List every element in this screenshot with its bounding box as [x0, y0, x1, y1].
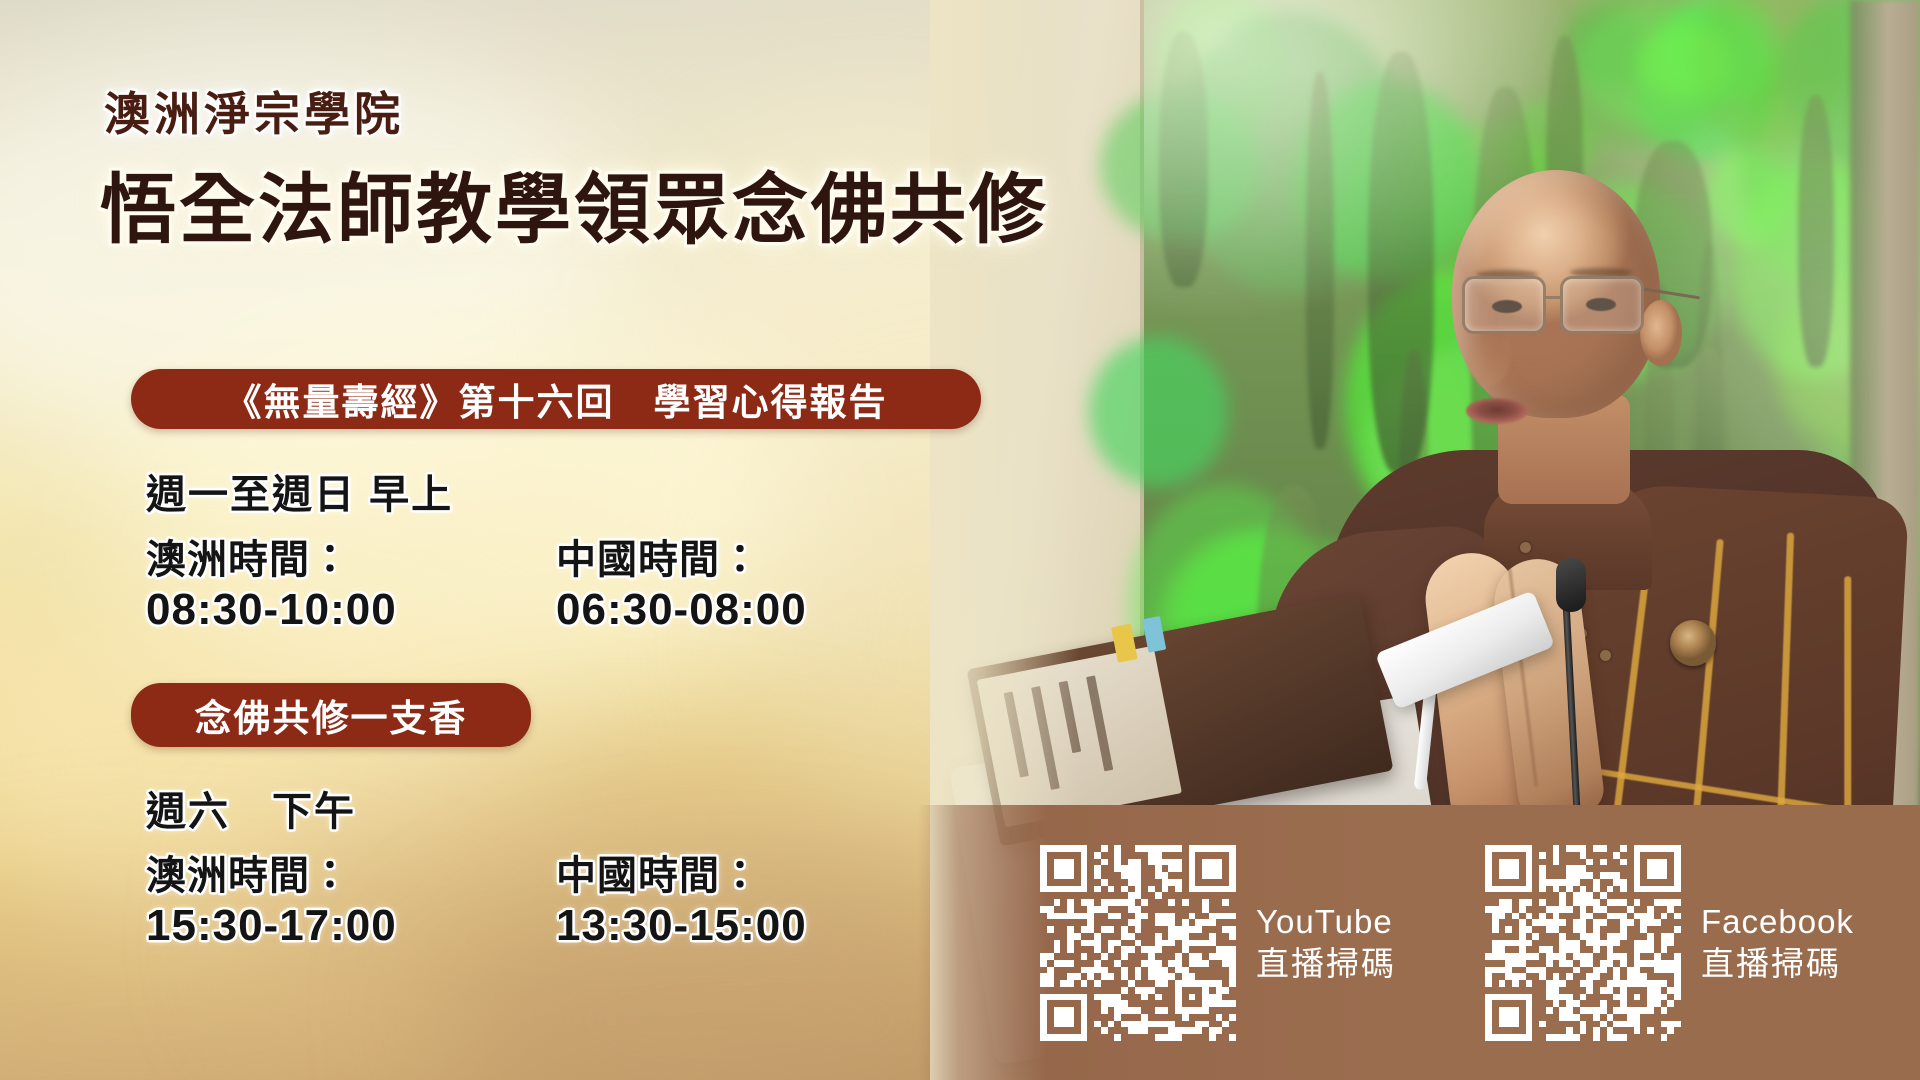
qr-caption: Facebook 直播掃碼: [1701, 901, 1854, 985]
organization-name: 澳洲淨宗學院: [104, 78, 404, 144]
microphone-head: [1556, 558, 1586, 612]
glasses-temple: [1644, 288, 1700, 300]
qr-code-icon[interactable]: [1040, 845, 1236, 1041]
timezone-value-au-1: 08:30-10:00: [146, 585, 397, 635]
qr-scan-label: 直播掃碼: [1701, 943, 1854, 985]
timezone-value-cn-2: 13:30-15:00: [556, 901, 807, 951]
nose: [1466, 330, 1510, 386]
qr-block-facebook[interactable]: Facebook 直播掃碼: [1485, 845, 1854, 1041]
eyeglasses: [1462, 276, 1674, 336]
qr-block-youtube[interactable]: YouTube 直播掃碼: [1040, 845, 1396, 1041]
timezone-label-au-1: 澳洲時間：: [146, 527, 351, 585]
qr-platform-label: Facebook: [1701, 901, 1854, 943]
qr-platform-label: YouTube: [1256, 901, 1396, 943]
timezone-label-cn-1: 中國時間：: [556, 527, 761, 585]
lens: [1462, 276, 1546, 334]
schedule-days-2: 週六 下午: [146, 779, 356, 837]
book-text-column: [1086, 675, 1113, 771]
qr-caption: YouTube 直播掃碼: [1256, 901, 1396, 985]
page-title: 悟全法師教學領眾念佛共修: [100, 148, 1048, 258]
timezone-value-au-2: 15:30-17:00: [146, 901, 397, 951]
qr-code-icon[interactable]: [1485, 845, 1681, 1041]
timezone-label-au-2: 澳洲時間：: [146, 843, 351, 901]
timezone-label-cn-2: 中國時間：: [556, 843, 761, 901]
timezone-value-cn-1: 06:30-08:00: [556, 585, 807, 635]
mouth: [1466, 398, 1528, 424]
section-pill-chant: 念佛共修一支香: [131, 683, 531, 747]
poster-canvas: 澳洲淨宗學院 悟全法師教學領眾念佛共修 《無量壽經》第十六回 學習心得報告 週一…: [0, 0, 1920, 1080]
schedule-days-1: 週一至週日 早上: [146, 462, 453, 520]
qr-scan-label: 直播掃碼: [1256, 943, 1396, 985]
glasses-bridge: [1546, 296, 1560, 299]
robe-clasp: [1670, 620, 1716, 666]
section-pill-sutra: 《無量壽經》第十六回 學習心得報告: [131, 369, 981, 429]
lens: [1560, 276, 1644, 334]
